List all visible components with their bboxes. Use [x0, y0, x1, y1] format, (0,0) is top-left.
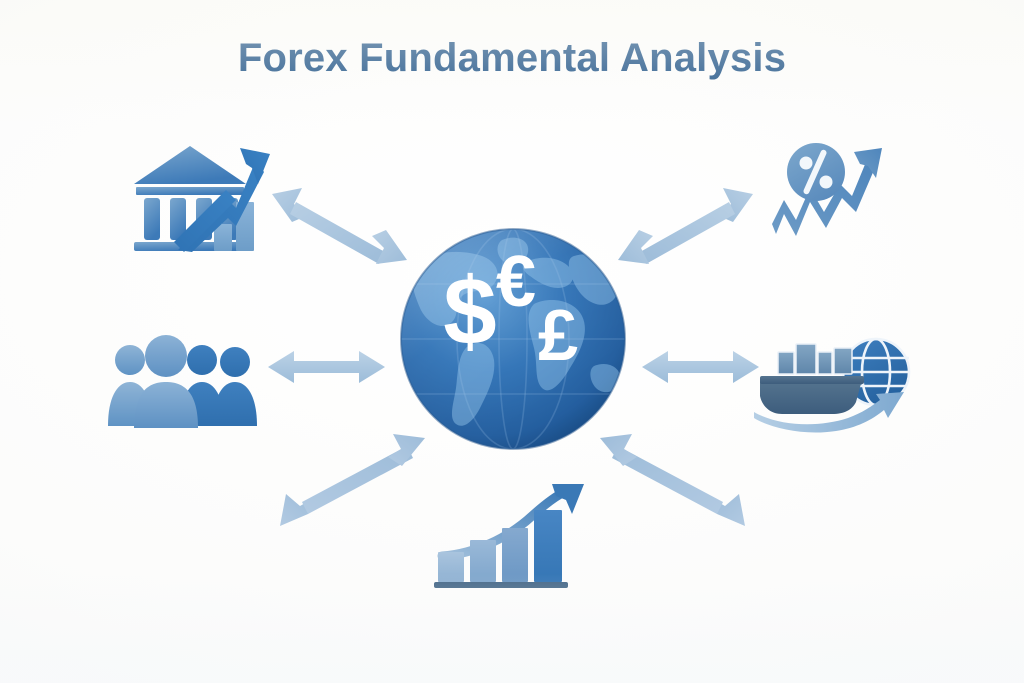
- infographic-canvas: Forex Fundamental Analysis: [0, 0, 1024, 683]
- factor-gdp-growth: [432, 482, 592, 590]
- factor-central-bank: [132, 142, 272, 252]
- factor-interest-rates: [770, 140, 890, 250]
- arrow-left: [268, 349, 385, 385]
- currency-symbol-dollar: $: [443, 258, 496, 365]
- page-title: Forex Fundamental Analysis: [0, 36, 1024, 81]
- cargo-ship-globe-icon: [754, 339, 909, 433]
- bar-4: [534, 510, 562, 582]
- currency-symbol-pound: £: [538, 296, 578, 376]
- chart-baseline: [434, 582, 568, 588]
- arrow-top-left: [272, 186, 407, 266]
- bank-growth-icon: [134, 146, 270, 252]
- bar-1: [438, 552, 464, 582]
- containers: [778, 344, 852, 374]
- globe: $ € £: [398, 226, 628, 452]
- arrow-right: [642, 349, 759, 385]
- factor-employment: [104, 334, 264, 428]
- currency-symbol-euro: €: [496, 242, 536, 322]
- growth-bar-chart-icon: [434, 484, 584, 588]
- arrow-top-right: [618, 186, 753, 266]
- factor-trade: [752, 330, 912, 438]
- bar-3: [502, 528, 528, 582]
- people-group-icon: [108, 335, 257, 428]
- percent-rising-arrow-icon: [772, 143, 882, 236]
- bar-2: [470, 540, 496, 582]
